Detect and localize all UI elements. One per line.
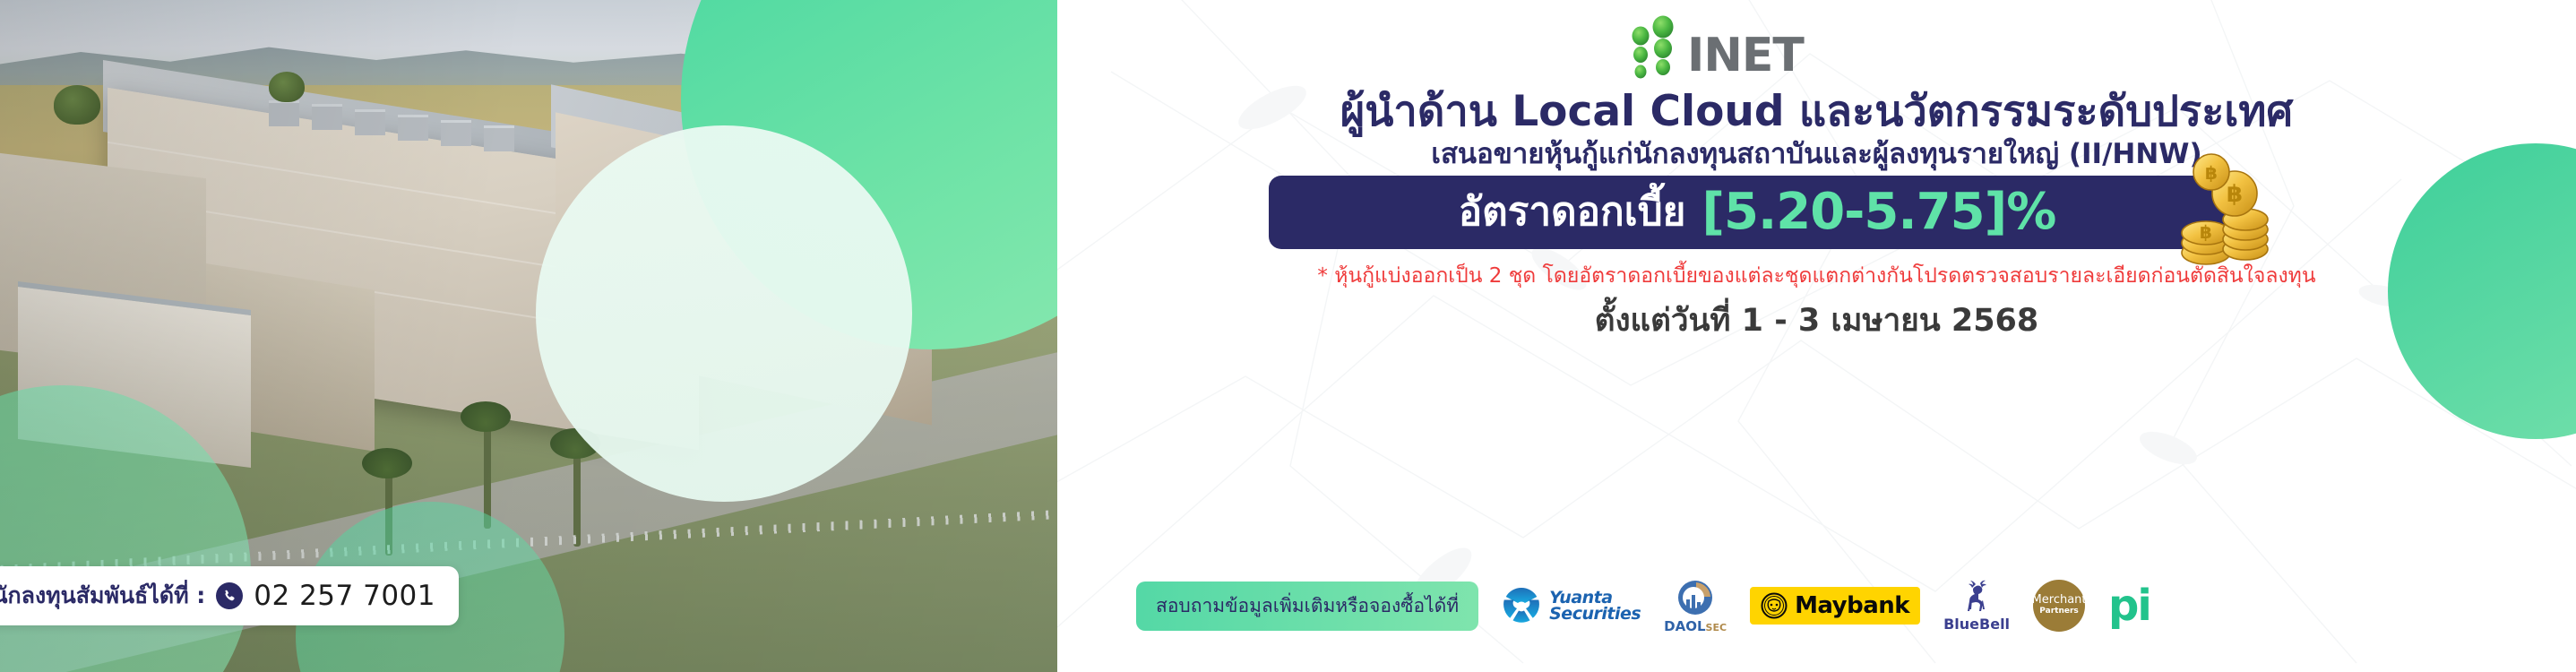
phone-glyph bbox=[222, 589, 237, 604]
contact-card: ติดต่อฝ่ายนักลงทุนสัมพันธ์ได้ที่ : 02 25… bbox=[0, 566, 459, 625]
merchant-line1: Merchant bbox=[2032, 594, 2087, 606]
disclaimer-note: * หุ้นกู้แบ่งออกเป็น 2 ชุด โดยอัตราดอกเบ… bbox=[1057, 260, 2576, 292]
maybank-wordmark: Maybank bbox=[1795, 592, 1909, 619]
daol-line1: DAOL bbox=[1664, 618, 1705, 634]
svg-text:฿: ฿ bbox=[2200, 221, 2212, 243]
yuanta-line2: Securities bbox=[1549, 606, 1641, 622]
inet-logo: INET bbox=[1628, 9, 1834, 81]
cta-inquiry-button[interactable]: สอบถามข้อมูลเพิ่มเติมหรือจองซื้อได้ที่ bbox=[1136, 582, 1478, 631]
interest-rate-value: [5.20-5.75]% bbox=[1702, 187, 2055, 237]
contact-phone-number[interactable]: 02 257 7001 bbox=[254, 580, 435, 612]
partner-logo-bluebell[interactable]: BlueBell bbox=[1943, 579, 2010, 633]
partner-logo-yuanta-securities[interactable]: Yuanta Securities bbox=[1502, 586, 1641, 625]
interest-rate-label: อัตราดอกเบี้ย bbox=[1459, 193, 1686, 232]
inet-bond-promo-banner: INET ผู้นำด้าน Local Cloud และนวัตกรรมระ… bbox=[0, 0, 2576, 672]
subheadline: เสนอขายหุ้นกู้แก่นักลงทุนสถาบันและผู้ลงท… bbox=[1057, 131, 2576, 176]
daol-wordmark: DAOLSEC bbox=[1664, 618, 1727, 634]
decorative-blob-pale bbox=[536, 125, 912, 502]
yuanta-wordmark: Yuanta Securities bbox=[1549, 590, 1641, 622]
inet-dots-logo-icon bbox=[1628, 14, 1693, 81]
merchant-line2: Partners bbox=[2039, 606, 2078, 617]
partner-logo-maybank[interactable]: Maybank bbox=[1750, 587, 1920, 625]
phone-icon bbox=[216, 582, 243, 609]
pi-wordmark: pi bbox=[2108, 589, 2150, 623]
bluebell-wordmark: BlueBell bbox=[1943, 616, 2010, 633]
svg-text:฿: ฿ bbox=[2205, 162, 2218, 184]
daol-line2: SEC bbox=[1706, 622, 1727, 633]
partners-row: สอบถามข้อมูลเพิ่มเติมหรือจองซื้อได้ที่ bbox=[1057, 570, 2576, 642]
bluebell-deer-icon bbox=[1959, 579, 1994, 615]
contact-label: ติดต่อฝ่ายนักลงทุนสัมพันธ์ได้ที่ : bbox=[0, 578, 205, 614]
partner-logo-merchant-partners[interactable]: Merchant Partners bbox=[2033, 580, 2085, 632]
interest-rate-box: อัตราดอกเบี้ย [5.20-5.75]% bbox=[1269, 176, 2245, 249]
offering-dates: ตั้งแต่วันที่ 1 - 3 เมษายน 2568 bbox=[1057, 296, 2576, 345]
maybank-tiger-icon bbox=[1761, 592, 1788, 619]
daol-circle-chart-icon bbox=[1676, 578, 1715, 617]
content-panel: INET ผู้นำด้าน Local Cloud และนวัตกรรมระ… bbox=[1057, 0, 2576, 672]
svg-text:฿: ฿ bbox=[2227, 181, 2243, 208]
partner-logo-pi-securities[interactable]: pi bbox=[2108, 589, 2150, 623]
gold-coins-icon: ฿ ฿ ฿ bbox=[2168, 152, 2276, 269]
inet-logo-text: INET bbox=[1687, 32, 1804, 79]
yuanta-star-icon bbox=[1502, 586, 1541, 625]
partner-logo-daol-sec[interactable]: DAOLSEC bbox=[1664, 578, 1727, 634]
